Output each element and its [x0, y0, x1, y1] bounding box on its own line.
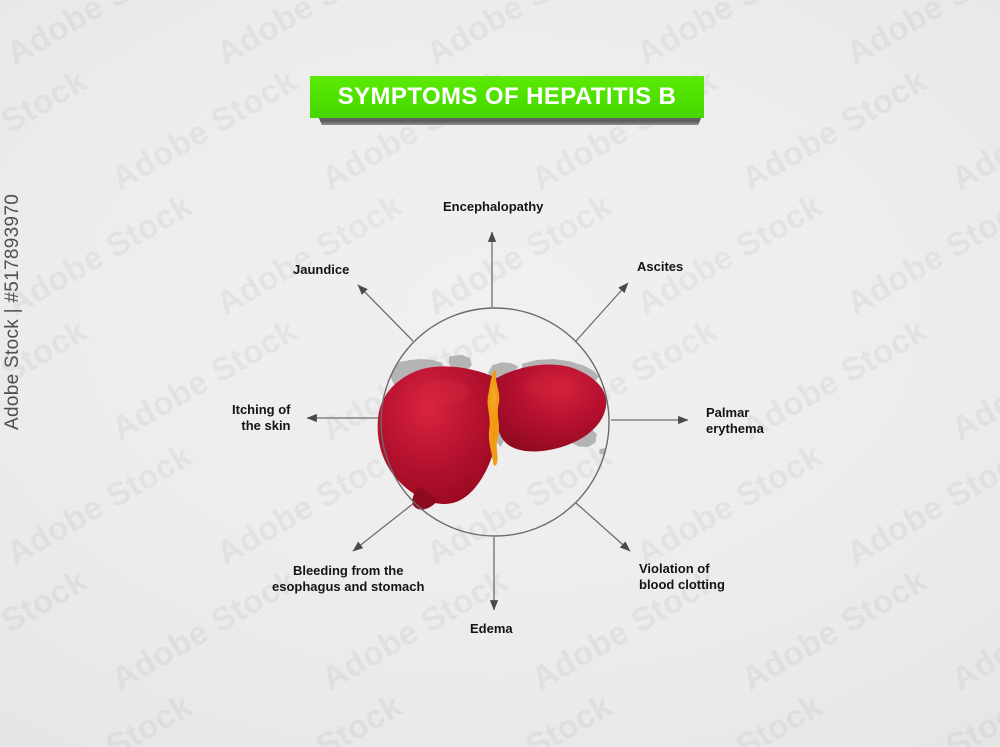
symptom-label-bleeding-esophagus-stomach[interactable]: Bleeding from the esophagus and stomach: [272, 563, 424, 596]
connector-line-violation-of-blood-clotting: [576, 503, 630, 551]
symptom-label-palmar-erythema[interactable]: Palmar erythema: [706, 405, 764, 438]
connector-line-ascites: [576, 283, 628, 341]
symptom-label-edema[interactable]: Edema: [470, 621, 513, 637]
symptom-label-encephalopathy[interactable]: Encephalopathy: [443, 199, 543, 215]
connector-line-jaundice: [358, 285, 413, 341]
symptom-label-jaundice[interactable]: Jaundice: [293, 262, 349, 278]
infographic-canvas: Adobe StockAdobe StockAdobe StockAdobe S…: [0, 0, 1000, 747]
symptom-label-ascites[interactable]: Ascites: [637, 259, 683, 275]
symptom-label-itching-of-the-skin[interactable]: Itching of the skin: [232, 402, 291, 435]
liver-illustration: [378, 364, 607, 509]
symptom-label-violation-of-blood-clotting[interactable]: Violation of blood clotting: [639, 561, 725, 594]
connector-line-bleeding-esophagus-stomach: [353, 503, 414, 551]
